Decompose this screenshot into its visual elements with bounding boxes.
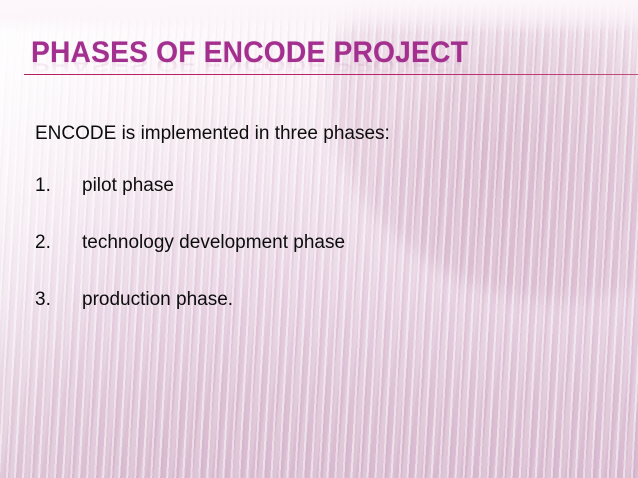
background-top-band: [0, 0, 638, 34]
list-item: 3. production phase.: [0, 288, 638, 345]
slide: PHASES OF ENCODE PROJECT PHASES OF ENCOD…: [0, 0, 638, 478]
phases-list: 1. pilot phase 2. technology development…: [0, 174, 638, 345]
list-item-label: pilot phase: [82, 174, 174, 198]
list-item: 2. technology development phase: [0, 231, 638, 288]
list-item: 1. pilot phase: [0, 174, 638, 231]
list-item-number: 2.: [35, 231, 51, 255]
list-item-number: 1.: [35, 174, 51, 198]
list-item-label: technology development phase: [82, 231, 345, 255]
list-item-label: production phase.: [82, 288, 233, 312]
slide-title-area: PHASES OF ENCODE PROJECT PHASES OF ENCOD…: [0, 34, 638, 96]
list-item-number: 3.: [35, 288, 51, 312]
slide-title: PHASES OF ENCODE PROJECT: [31, 36, 468, 70]
intro-paragraph: ENCODE is implemented in three phases:: [35, 122, 390, 146]
title-underline-rule: [24, 74, 638, 75]
